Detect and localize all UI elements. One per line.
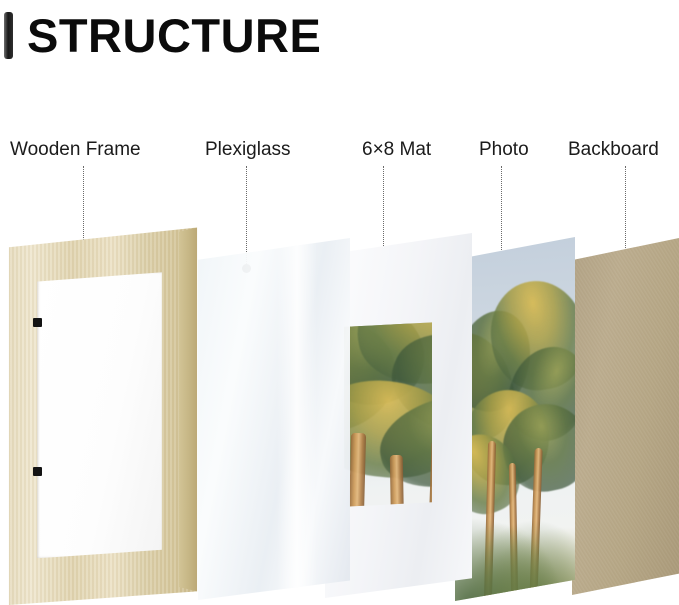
layer-wooden-frame: [8, 226, 198, 605]
mat-window-cutout: [344, 322, 432, 506]
frame-opening: [37, 272, 162, 558]
layer-plexiglass: [198, 238, 350, 600]
mat-window-photo-art: [344, 322, 432, 506]
frame-clip-bottom: [33, 467, 42, 476]
frame-clip-top: [33, 318, 42, 327]
layer-photo: [455, 237, 575, 601]
exploded-view-stage: [0, 0, 679, 605]
frame-side-depth: [179, 228, 197, 592]
plexiglass-sheen: [277, 238, 317, 600]
palm-tree-photo-art: [455, 237, 575, 601]
layer-backboard: [572, 238, 679, 595]
